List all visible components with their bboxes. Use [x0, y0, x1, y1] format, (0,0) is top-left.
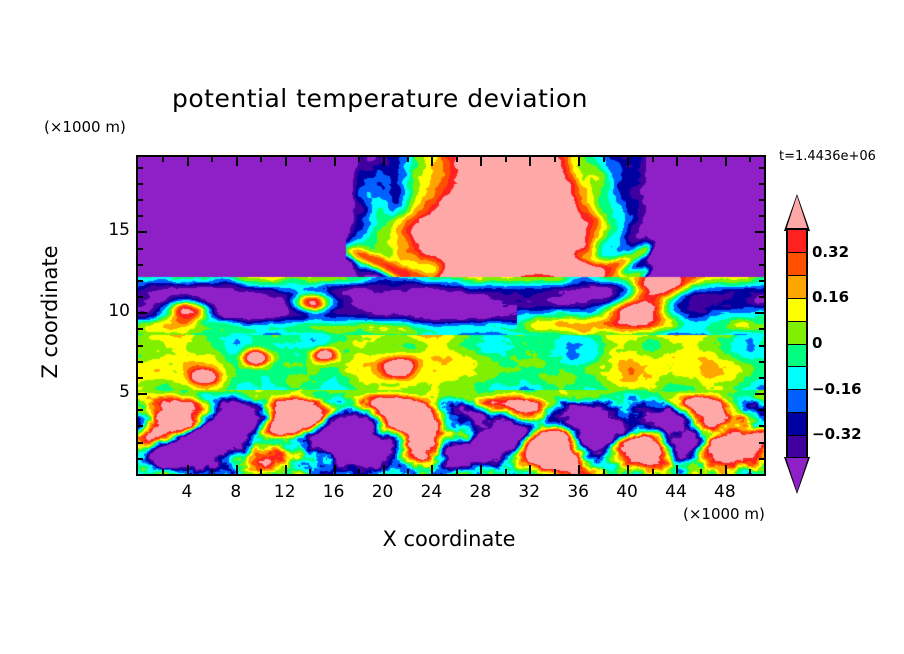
colorbar-band [788, 253, 806, 276]
x-tick [236, 157, 238, 166]
page-title: potential temperature deviation [0, 84, 760, 113]
x-tick [529, 465, 531, 474]
x-tick [285, 157, 287, 166]
x-tick-label: 20 [363, 482, 403, 502]
x-tick [749, 469, 751, 474]
y-tick [755, 312, 764, 314]
x-tick-label: 40 [607, 482, 647, 502]
y-tick [759, 248, 764, 250]
x-tick [652, 469, 654, 474]
y-tick [138, 377, 143, 379]
x-axis-units-label: (×1000 m) [683, 505, 765, 523]
y-tick [759, 345, 764, 347]
x-tick [480, 465, 482, 474]
colorbar-under-arrow [786, 458, 808, 492]
y-tick [759, 425, 764, 427]
x-tick-label: 48 [705, 482, 745, 502]
y-tick-label: 15 [90, 220, 130, 240]
x-tick [456, 469, 458, 474]
y-tick [138, 361, 143, 363]
y-tick [138, 296, 143, 298]
x-tick [187, 465, 189, 474]
colorbar-band [788, 299, 806, 322]
x-tick [603, 469, 605, 474]
colorbar-band [788, 322, 806, 345]
x-tick [652, 157, 654, 162]
x-tick-label: 8 [216, 482, 256, 502]
x-tick [260, 157, 262, 162]
colorbar-band [788, 436, 806, 458]
x-tick [236, 465, 238, 474]
colorbar-band [788, 230, 806, 253]
x-tick [309, 469, 311, 474]
y-tick [138, 231, 147, 233]
x-tick-label: 24 [411, 482, 451, 502]
x-tick [578, 465, 580, 474]
y-tick [138, 264, 143, 266]
x-tick [162, 157, 164, 162]
x-tick [676, 465, 678, 474]
y-tick [138, 248, 143, 250]
y-tick [138, 215, 143, 217]
x-tick [211, 469, 213, 474]
x-tick [700, 469, 702, 474]
y-tick [138, 393, 147, 395]
x-tick [309, 157, 311, 162]
y-tick [138, 199, 143, 201]
y-tick [759, 442, 764, 444]
y-tick [138, 442, 143, 444]
x-tick [211, 157, 213, 162]
x-tick [358, 469, 360, 474]
y-tick [759, 215, 764, 217]
y-tick [759, 296, 764, 298]
y-tick [759, 361, 764, 363]
y-tick [138, 312, 147, 314]
x-tick-label: 36 [558, 482, 598, 502]
y-tick [759, 328, 764, 330]
x-tick [578, 157, 580, 166]
x-tick [529, 157, 531, 166]
x-tick [431, 465, 433, 474]
x-tick [358, 157, 360, 162]
colorbar-tick-label: −0.16 [812, 380, 862, 398]
x-tick [505, 469, 507, 474]
x-tick-label: 4 [167, 482, 207, 502]
y-tick [138, 345, 143, 347]
y-tick [138, 280, 143, 282]
y-tick [759, 280, 764, 282]
colorbar-tick-label: 0.32 [812, 243, 849, 261]
colorbar-over-arrow [786, 196, 808, 230]
x-tick [407, 157, 409, 162]
x-tick [187, 157, 189, 166]
y-tick [759, 167, 764, 169]
x-tick-label: 28 [460, 482, 500, 502]
y-tick [759, 264, 764, 266]
x-tick [725, 465, 727, 474]
y-tick [138, 328, 143, 330]
x-tick [162, 469, 164, 474]
y-tick [755, 231, 764, 233]
x-tick [554, 469, 556, 474]
x-tick-label: 12 [265, 482, 305, 502]
y-tick-label: 5 [90, 382, 130, 402]
heatmap-field [138, 157, 764, 474]
y-tick [759, 458, 764, 460]
x-tick [749, 157, 751, 162]
contour-plot-area [136, 155, 766, 476]
x-tick [285, 465, 287, 474]
y-tick [138, 183, 143, 185]
y-tick [759, 183, 764, 185]
y-tick [759, 377, 764, 379]
x-tick [480, 157, 482, 166]
x-tick [725, 157, 727, 166]
y-tick [138, 458, 143, 460]
x-tick [431, 157, 433, 166]
x-tick [627, 157, 629, 166]
x-tick [700, 157, 702, 162]
colorbar-band [788, 367, 806, 390]
x-tick [383, 157, 385, 166]
y-tick [138, 409, 143, 411]
x-tick-label: 44 [656, 482, 696, 502]
colorbar-band [788, 345, 806, 368]
x-axis-title: X coordinate [136, 527, 762, 551]
y-tick [755, 393, 764, 395]
y-tick-label: 10 [90, 301, 130, 321]
x-tick [334, 157, 336, 166]
colorbar-tick-label: 0.16 [812, 288, 849, 306]
colorbar-tick-label: −0.32 [812, 425, 862, 443]
colorbar-band [788, 390, 806, 413]
x-tick [627, 465, 629, 474]
y-tick [759, 409, 764, 411]
x-tick [407, 469, 409, 474]
colorbar-tick-label: 0 [812, 334, 822, 352]
y-tick [138, 167, 143, 169]
x-tick [456, 157, 458, 162]
colorbar-band [788, 413, 806, 436]
x-tick-label: 32 [509, 482, 549, 502]
x-tick [676, 157, 678, 166]
x-tick [260, 469, 262, 474]
x-tick [383, 465, 385, 474]
x-tick [603, 157, 605, 162]
x-tick [505, 157, 507, 162]
y-axis-title: Z coordinate [38, 202, 62, 422]
y-tick [759, 199, 764, 201]
x-tick [554, 157, 556, 162]
colorbar-band [788, 276, 806, 299]
x-tick-label: 16 [314, 482, 354, 502]
y-axis-units-label: (×1000 m) [44, 118, 126, 136]
x-tick [334, 465, 336, 474]
colorbar [786, 228, 808, 460]
y-tick [138, 425, 143, 427]
time-annotation: t=1.4436e+06 [779, 149, 876, 164]
